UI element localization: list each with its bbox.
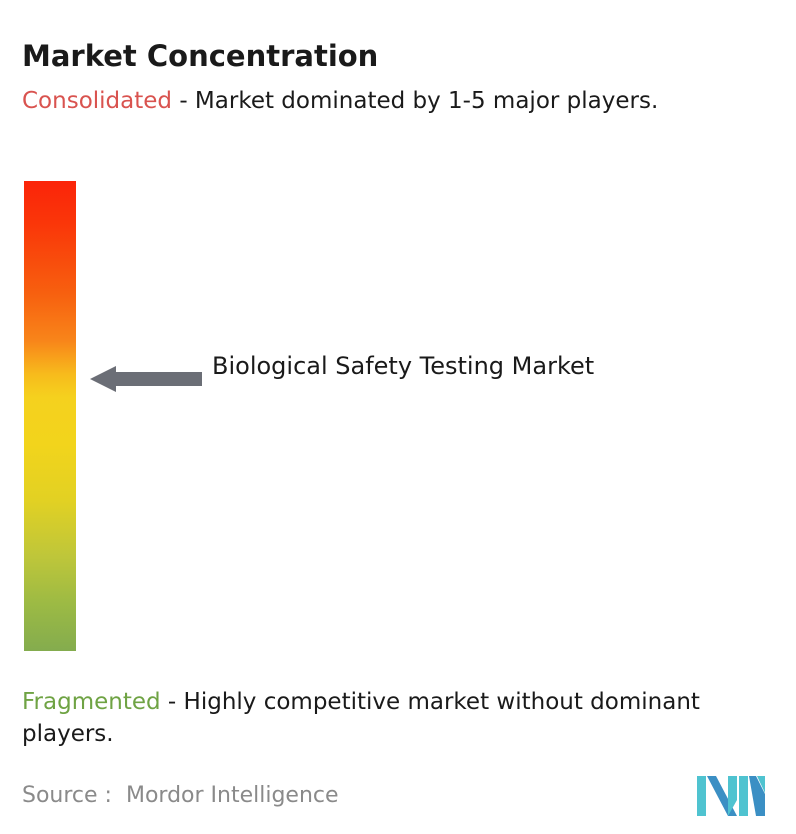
source-attribution: Source : Mordor Intelligence	[22, 782, 339, 810]
mordor-intelligence-logo-icon	[697, 770, 765, 816]
legend-description-consolidated: - Market dominated by 1-5 major players.	[172, 88, 658, 114]
left-arrow-icon	[90, 366, 202, 392]
market-concentration-gradient-bar	[24, 181, 76, 651]
legend-fragmented: Fragmented - Highly competitive market w…	[22, 686, 792, 750]
callout-label: Biological Safety Testing Market	[212, 348, 632, 384]
legend-term-consolidated: Consolidated	[22, 88, 172, 114]
legend-consolidated: Consolidated - Market dominated by 1-5 m…	[22, 85, 778, 117]
legend-term-fragmented: Fragmented	[22, 689, 161, 715]
page-title: Market Concentration	[22, 39, 378, 73]
source-label: Source :	[22, 783, 112, 808]
source-name: Mordor Intelligence	[126, 783, 339, 808]
